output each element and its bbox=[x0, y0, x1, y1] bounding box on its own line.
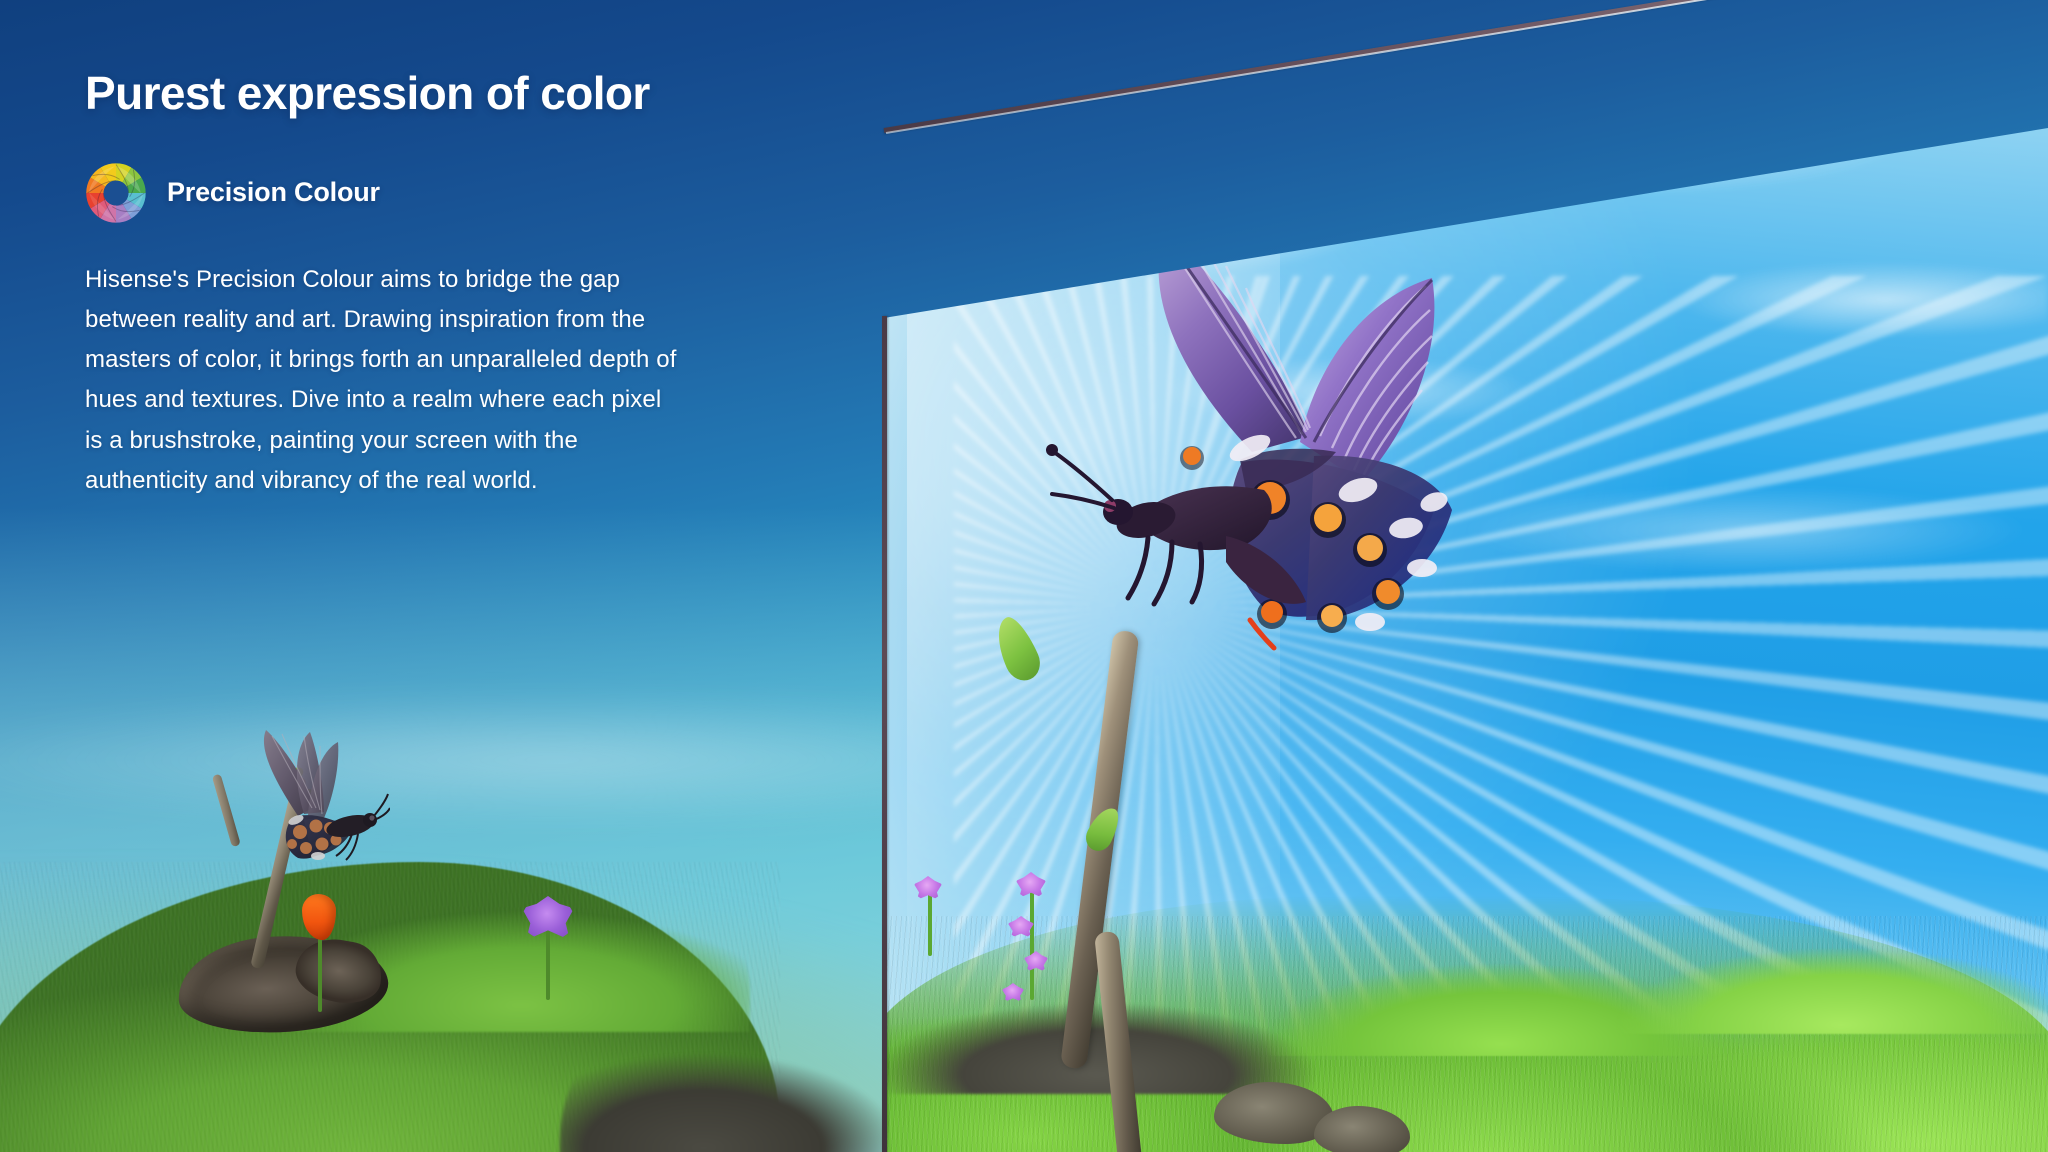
feature-name-label: Precision Colour bbox=[167, 177, 380, 208]
tv-bezel-left-edge bbox=[882, 316, 887, 1152]
hero-banner: Purest expression of color bbox=[0, 0, 2048, 1152]
copy-block: Purest expression of color bbox=[85, 68, 725, 501]
precision-colour-iris-logo-icon bbox=[85, 162, 147, 224]
feature-brand-row: Precision Colour bbox=[85, 162, 725, 224]
bellflower-stem bbox=[546, 926, 550, 1000]
page-title: Purest expression of color bbox=[85, 68, 725, 120]
butterfly-muted-background bbox=[200, 720, 390, 880]
poppy-stem bbox=[318, 928, 322, 1012]
tv-flower-stem-1 bbox=[1030, 882, 1034, 1000]
feature-description: Hisense's Precision Colour aims to bridg… bbox=[85, 260, 685, 502]
